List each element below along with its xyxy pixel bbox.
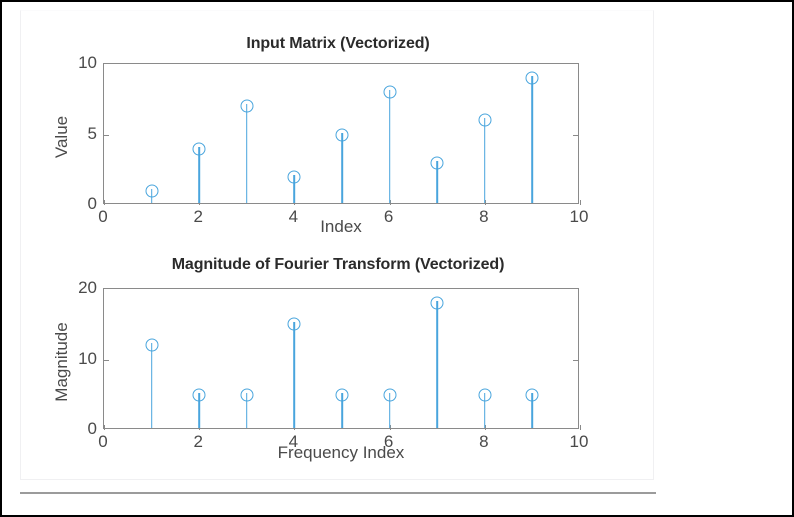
y-tick-label: 10 bbox=[49, 53, 97, 73]
stem-marker bbox=[383, 86, 396, 99]
x-tick-label: 8 bbox=[479, 207, 488, 227]
y-tick-mark bbox=[104, 135, 109, 136]
x-tick-label: 2 bbox=[193, 432, 202, 452]
stem-line bbox=[532, 76, 534, 203]
stem-line bbox=[484, 118, 486, 203]
stem-line bbox=[294, 322, 296, 428]
stem-line bbox=[151, 343, 153, 428]
figure-panel: Input Matrix (Vectorized) Index Value 02… bbox=[20, 10, 654, 480]
x-tick-mark bbox=[104, 200, 105, 205]
chart-fourier-magnitude: Magnitude of Fourier Transform (Vectoriz… bbox=[21, 247, 655, 481]
y-tick-mark bbox=[573, 360, 578, 361]
stem-marker bbox=[193, 142, 206, 155]
x-tick-label: 4 bbox=[289, 207, 298, 227]
chart-title-input-matrix: Input Matrix (Vectorized) bbox=[21, 35, 655, 53]
stem-marker bbox=[193, 388, 206, 401]
y-tick-label: 5 bbox=[49, 124, 97, 144]
x-tick-label: 8 bbox=[479, 432, 488, 452]
stem-marker bbox=[240, 100, 253, 113]
stem-marker bbox=[431, 297, 444, 310]
x-tick-label: 6 bbox=[384, 207, 393, 227]
stem-marker bbox=[431, 156, 444, 169]
stem-marker bbox=[145, 184, 158, 197]
x-tick-mark bbox=[580, 200, 581, 205]
chart-input-matrix: Input Matrix (Vectorized) Index Value 02… bbox=[21, 11, 655, 251]
x-tick-mark bbox=[580, 425, 581, 430]
x-tick-label: 10 bbox=[570, 207, 589, 227]
stem-marker bbox=[288, 318, 301, 331]
stem-marker bbox=[240, 388, 253, 401]
stem-line bbox=[246, 104, 248, 203]
stem-marker bbox=[145, 339, 158, 352]
y-tick-mark bbox=[104, 360, 109, 361]
y-tick-label: 0 bbox=[49, 194, 97, 214]
plot-area-input-matrix bbox=[103, 63, 579, 204]
x-tick-label: 0 bbox=[98, 432, 107, 452]
figure-window: Input Matrix (Vectorized) Index Value 02… bbox=[0, 0, 794, 517]
x-tick-label: 10 bbox=[570, 432, 589, 452]
x-axis-label-frequency-index: Frequency Index bbox=[103, 443, 579, 463]
y-tick-label: 20 bbox=[49, 278, 97, 298]
stem-marker bbox=[288, 170, 301, 183]
x-tick-label: 2 bbox=[193, 207, 202, 227]
stem-marker bbox=[478, 388, 491, 401]
y-tick-label: 0 bbox=[49, 419, 97, 439]
y-tick-mark bbox=[573, 135, 578, 136]
x-tick-mark bbox=[104, 425, 105, 430]
stem-marker bbox=[478, 114, 491, 127]
chart-title-fourier-magnitude: Magnitude of Fourier Transform (Vectoriz… bbox=[21, 256, 655, 274]
y-tick-label: 10 bbox=[49, 349, 97, 369]
x-tick-label: 6 bbox=[384, 432, 393, 452]
stem-marker bbox=[526, 388, 539, 401]
stem-line bbox=[341, 133, 343, 204]
stem-marker bbox=[336, 388, 349, 401]
x-axis-label-index: Index bbox=[103, 217, 579, 237]
stem-marker bbox=[526, 72, 539, 85]
stem-marker bbox=[336, 128, 349, 141]
footer-divider bbox=[20, 492, 656, 494]
stem-marker bbox=[383, 388, 396, 401]
plot-area-fourier-magnitude bbox=[103, 288, 579, 429]
x-tick-label: 4 bbox=[289, 432, 298, 452]
stem-line bbox=[389, 90, 391, 203]
stem-line bbox=[436, 301, 438, 428]
x-tick-label: 0 bbox=[98, 207, 107, 227]
